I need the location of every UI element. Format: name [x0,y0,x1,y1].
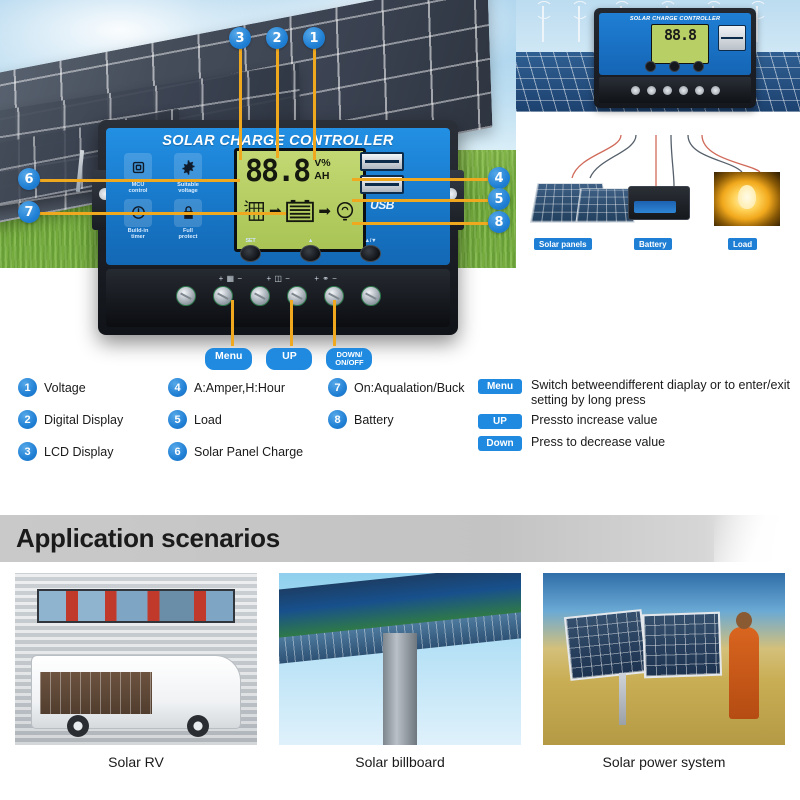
leader-line-menu [231,300,234,346]
wiring-terminal-screw [663,86,672,95]
legend-item-8: 8 Battery [328,410,493,429]
leader-line-up [290,300,293,346]
rv-wheel [187,715,209,737]
help-row-menu: Menu Switch betweendifferent diaplay or … [478,378,790,407]
button-set-wrap: SET [240,238,261,262]
field-solar-panel-left [564,609,648,681]
rv-vehicle [31,655,241,729]
pill-down-onoff[interactable]: DOWN/ ON/OFF [326,348,372,370]
legend-badge: 3 [18,442,37,461]
leader-line-4 [352,178,488,181]
wiring-controller-device: SOLAR CHARGE CONTROLLER 88.8 [594,8,756,108]
wiring-controller-lcd: 88.8 [651,24,709,64]
help-key-down: Down [478,436,522,451]
feature-build-in-timer: Build-in timer [116,199,160,241]
help-key-menu: Menu [478,379,522,394]
wiring-label-load: Load [728,238,757,250]
usb-port-group: USB [360,152,404,212]
application-scenarios-band: Application scenarios [0,515,800,562]
wiring-controller-face: SOLAR CHARGE CONTROLLER 88.8 [599,13,751,75]
wiring-controller-title: SOLAR CHARGE CONTROLLER [599,16,751,22]
legend-item-3: 3 LCD Display [18,442,168,461]
wiring-terminal-screw [647,86,656,95]
lcd-digits: 88.8 [245,156,309,187]
lcd-unit-voltage-percent: V% [314,157,330,170]
legend-item-7: 7 On:Aqualation/Buck [328,378,493,397]
terminal-strip: + ▦ − + ◫ − + ⚭ − [106,269,450,327]
panel-mount-post [619,673,626,725]
legend-label: On:Aqualation/Buck [354,381,465,395]
scenario-caption-rv: Solar RV [15,754,257,770]
feature-full-protect: Full protect [166,199,210,241]
billboard-column [383,633,417,745]
legend-badge: 7 [328,378,347,397]
terminal-screw-row [106,286,450,306]
help-row-up: UP Pressto increase value [478,413,790,429]
infographic-page: SOLAR CHARGE CONTROLLER 88.8 [0,0,800,800]
scenario-caption-billboard: Solar billboard [279,754,521,770]
lcd-arrow-icon: ➡ [318,204,331,219]
chip-icon [124,153,152,181]
usb-port-top[interactable] [360,152,404,171]
callout-badge-4: 4 [488,167,510,189]
button-up[interactable] [300,245,321,262]
scenario-gallery: Solar RV Solar billboard Solar power sys… [15,573,785,770]
application-scenarios-title: Application scenarios [0,523,280,554]
terminal-mark-solar: + ▦ − [219,274,243,283]
scenario-photo-power-system [543,573,785,745]
wiring-usb-ports [718,25,746,51]
button-set[interactable] [240,245,261,262]
wiring-button-row [645,61,704,72]
pill-up[interactable]: UP [266,348,312,370]
terminal-screw[interactable] [250,286,270,306]
scenario-solar-power-system: Solar power system [543,573,785,770]
button-down[interactable] [360,245,381,262]
feature-label: timer [116,234,160,240]
leader-line-1 [313,48,316,160]
wiring-terminal-screw [631,86,640,95]
legend-item-1: 1 Voltage [18,378,168,397]
feature-mcu-control: MCU control [116,153,160,195]
legend-item-2: 2 Digital Display [18,410,168,429]
callout-badge-1: 1 [303,27,325,49]
legend-item-4: 4 A:Amper,H:Hour [168,378,328,397]
leader-line-2 [276,48,279,158]
windmill-icon [578,6,580,42]
battery-illustration [628,186,690,220]
leader-line-8 [352,222,488,225]
lcd-battery-icon [285,199,315,223]
wiring-terminal-strip [599,77,751,103]
button-down-label: ▲/▼ [360,238,381,244]
lcd-flow-row: ➡ ➡ [237,187,363,231]
lcd-unit-amp-hour: AH [314,170,330,183]
help-key-up: UP [478,414,522,429]
wiring-button [693,61,704,72]
legend-label: A:Amper,H:Hour [194,381,285,395]
legend-badge: 5 [168,410,187,429]
person-figure [729,627,759,719]
legend-label: Solar Panel Charge [194,445,303,459]
leader-line-downonoff [333,300,336,346]
feature-label: protect [166,234,210,240]
terminal-mark-battery: + ◫ − [267,274,291,283]
wiring-button [669,61,680,72]
terminal-marks: + ▦ − + ◫ − + ⚭ − [106,269,450,283]
button-help-list: Menu Switch betweendifferent diaplay or … [478,378,790,457]
callout-badge-7: 7 [18,201,40,223]
lcd-readout-row: 88.8 V% AH [237,151,363,187]
wiring-lcd-digits: 88.8 [652,25,708,45]
scenario-photo-billboard [279,573,521,745]
button-up-wrap: ▲ [300,238,321,262]
solar-panel-illustration [575,188,634,222]
callout-badge-3: 3 [229,27,251,49]
pill-down-line2: ON/OFF [334,359,364,368]
wiring-terminal-screw [711,86,720,95]
button-pill-row: Menu UP DOWN/ ON/OFF [205,348,372,370]
legend-label: Battery [354,413,394,427]
button-up-label: ▲ [300,238,321,244]
legend-list: 1 Voltage 4 A:Amper,H:Hour 7 On:Aqualati… [18,378,468,461]
scenario-caption-power-system: Solar power system [543,754,785,770]
wiring-label-battery: Battery [634,238,672,250]
legend-label: Digital Display [44,413,123,427]
light-bulb-illustration [714,172,780,226]
terminal-mark-load: + ⚭ − [314,274,337,283]
wiring-diagram: SOLAR CHARGE CONTROLLER 88.8 [516,0,800,268]
lcd-screen: 88.8 V% AH ➡ [234,148,366,252]
legend-badge: 8 [328,410,347,429]
callout-badge-2: 2 [266,27,288,49]
help-text-up: Pressto increase value [531,413,657,428]
leader-line-5 [352,199,488,202]
wiring-button [645,61,656,72]
windmill-icon [756,6,758,42]
field-solar-panel-right [642,612,722,679]
feature-label: voltage [166,188,210,194]
lcd-arrow-icon: ➡ [269,204,282,219]
callout-badge-6: 6 [18,168,40,190]
legend-badge: 2 [18,410,37,429]
pill-menu[interactable]: Menu [205,348,252,370]
legend-label: Load [194,413,222,427]
gear-icon [174,153,202,181]
terminal-screw[interactable] [361,286,381,306]
button-down-wrap: ▲/▼ [360,238,381,262]
windmill-icon [542,6,544,42]
terminal-screw[interactable] [213,286,233,306]
feature-badge-grid: MCU control Suitable voltage [116,153,210,241]
callout-badge-5: 5 [488,188,510,210]
feature-suitable-voltage: Suitable voltage [166,153,210,195]
lcd-load-bulb-icon [334,199,356,223]
scenario-solar-rv: Solar RV [15,573,257,770]
terminal-screw[interactable] [176,286,196,306]
legend-spacer [328,442,493,461]
legend-item-5: 5 Load [168,410,328,429]
wiring-terminal-screw [695,86,704,95]
leader-line-3 [239,48,242,160]
legend-label: LCD Display [44,445,113,459]
callout-badge-8: 8 [488,211,510,233]
help-text-menu: Switch betweendifferent diaplay or to en… [531,378,790,407]
lcd-solar-panel-icon [244,199,266,223]
lcd-units: V% AH [314,157,330,183]
rv-wheel [67,715,89,737]
legend-item-6: 6 Solar Panel Charge [168,442,328,461]
leader-line-6 [40,179,240,182]
wiring-terminal-screw [679,86,688,95]
help-text-down: Press to decrease value [531,435,665,450]
feature-label: control [116,188,160,194]
button-set-label: SET [240,238,261,244]
legend-label: Voltage [44,381,86,395]
help-row-down: Down Press to decrease value [478,435,790,451]
legend-badge: 1 [18,378,37,397]
legend-badge: 6 [168,442,187,461]
scenario-solar-billboard: Solar billboard [279,573,521,770]
rv-building-windows [37,589,235,623]
wiring-label-solar-panels: Solar panels [534,238,592,250]
device-button-row: SET ▲ ▲/▼ [240,238,381,262]
scenario-photo-rv [15,573,257,745]
leader-line-7 [40,212,286,215]
legend-badge: 4 [168,378,187,397]
